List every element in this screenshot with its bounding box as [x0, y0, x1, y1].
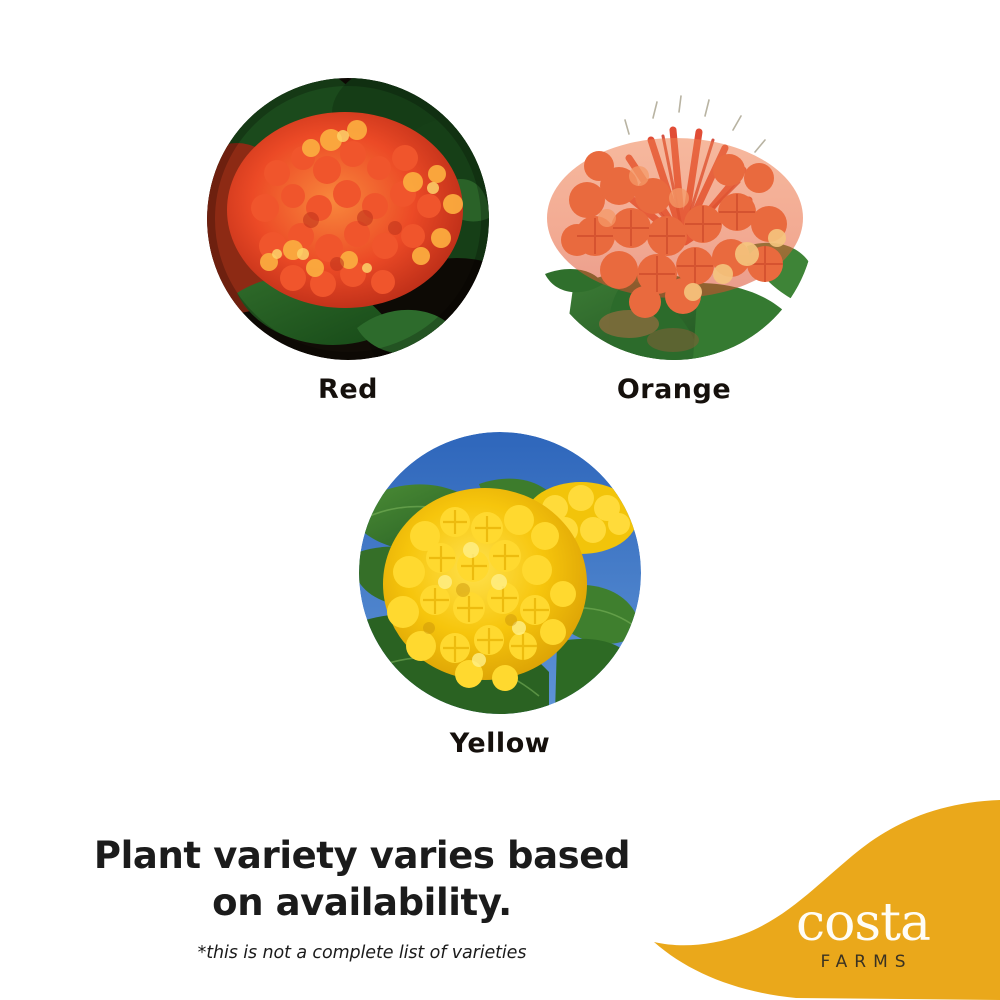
variety-photo-orange	[533, 78, 815, 360]
variety-card-yellow: Yellow	[359, 432, 641, 757]
variety-label-orange: Orange	[533, 376, 815, 403]
caption-block: Plant variety varies based on availabili…	[52, 832, 672, 963]
caption-headline: Plant variety varies based on availabili…	[52, 832, 672, 927]
variety-label-yellow: Yellow	[359, 730, 641, 757]
variety-card-orange: Orange	[533, 78, 815, 403]
caption-headline-line-2: on availability.	[52, 879, 672, 926]
variety-card-red: Red	[207, 78, 489, 403]
caption-subnote: *this is not a complete list of varietie…	[52, 943, 672, 963]
poster-canvas: Red	[0, 0, 1000, 1000]
variety-label-red: Red	[207, 376, 489, 403]
caption-headline-line-1: Plant variety varies based	[52, 832, 672, 879]
brand-leaf-shape	[640, 800, 1000, 1000]
variety-photo-yellow	[359, 432, 641, 714]
variety-photo-red	[207, 78, 489, 360]
